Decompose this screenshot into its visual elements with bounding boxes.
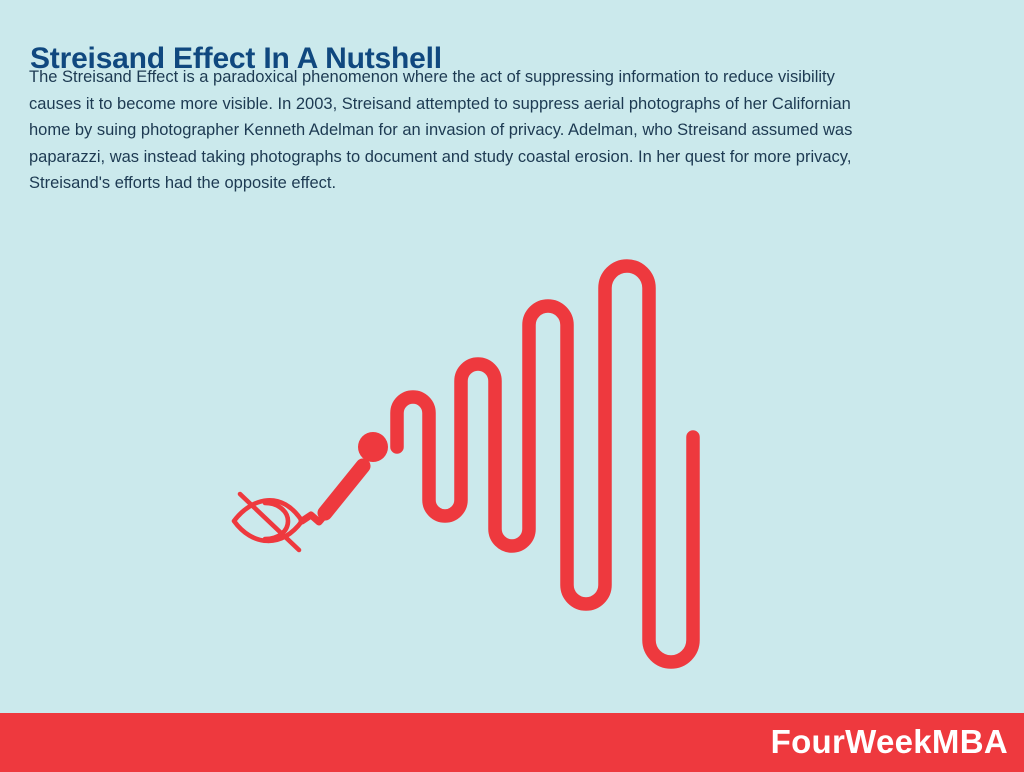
hidden-eye-icon: [234, 494, 302, 550]
description-paragraph: The Streisand Effect is a paradoxical ph…: [29, 64, 889, 197]
brand-logo: FourWeekMBA: [771, 723, 1008, 761]
infographic-page: Streisand Effect In A Nutshell The Strei…: [0, 0, 1024, 772]
amplifying-sound-wave: [397, 266, 693, 662]
description-block: The Streisand Effect is a paradoxical ph…: [29, 64, 889, 197]
microphone-icon: [325, 432, 388, 513]
eye-to-mic-connector: [302, 509, 330, 522]
